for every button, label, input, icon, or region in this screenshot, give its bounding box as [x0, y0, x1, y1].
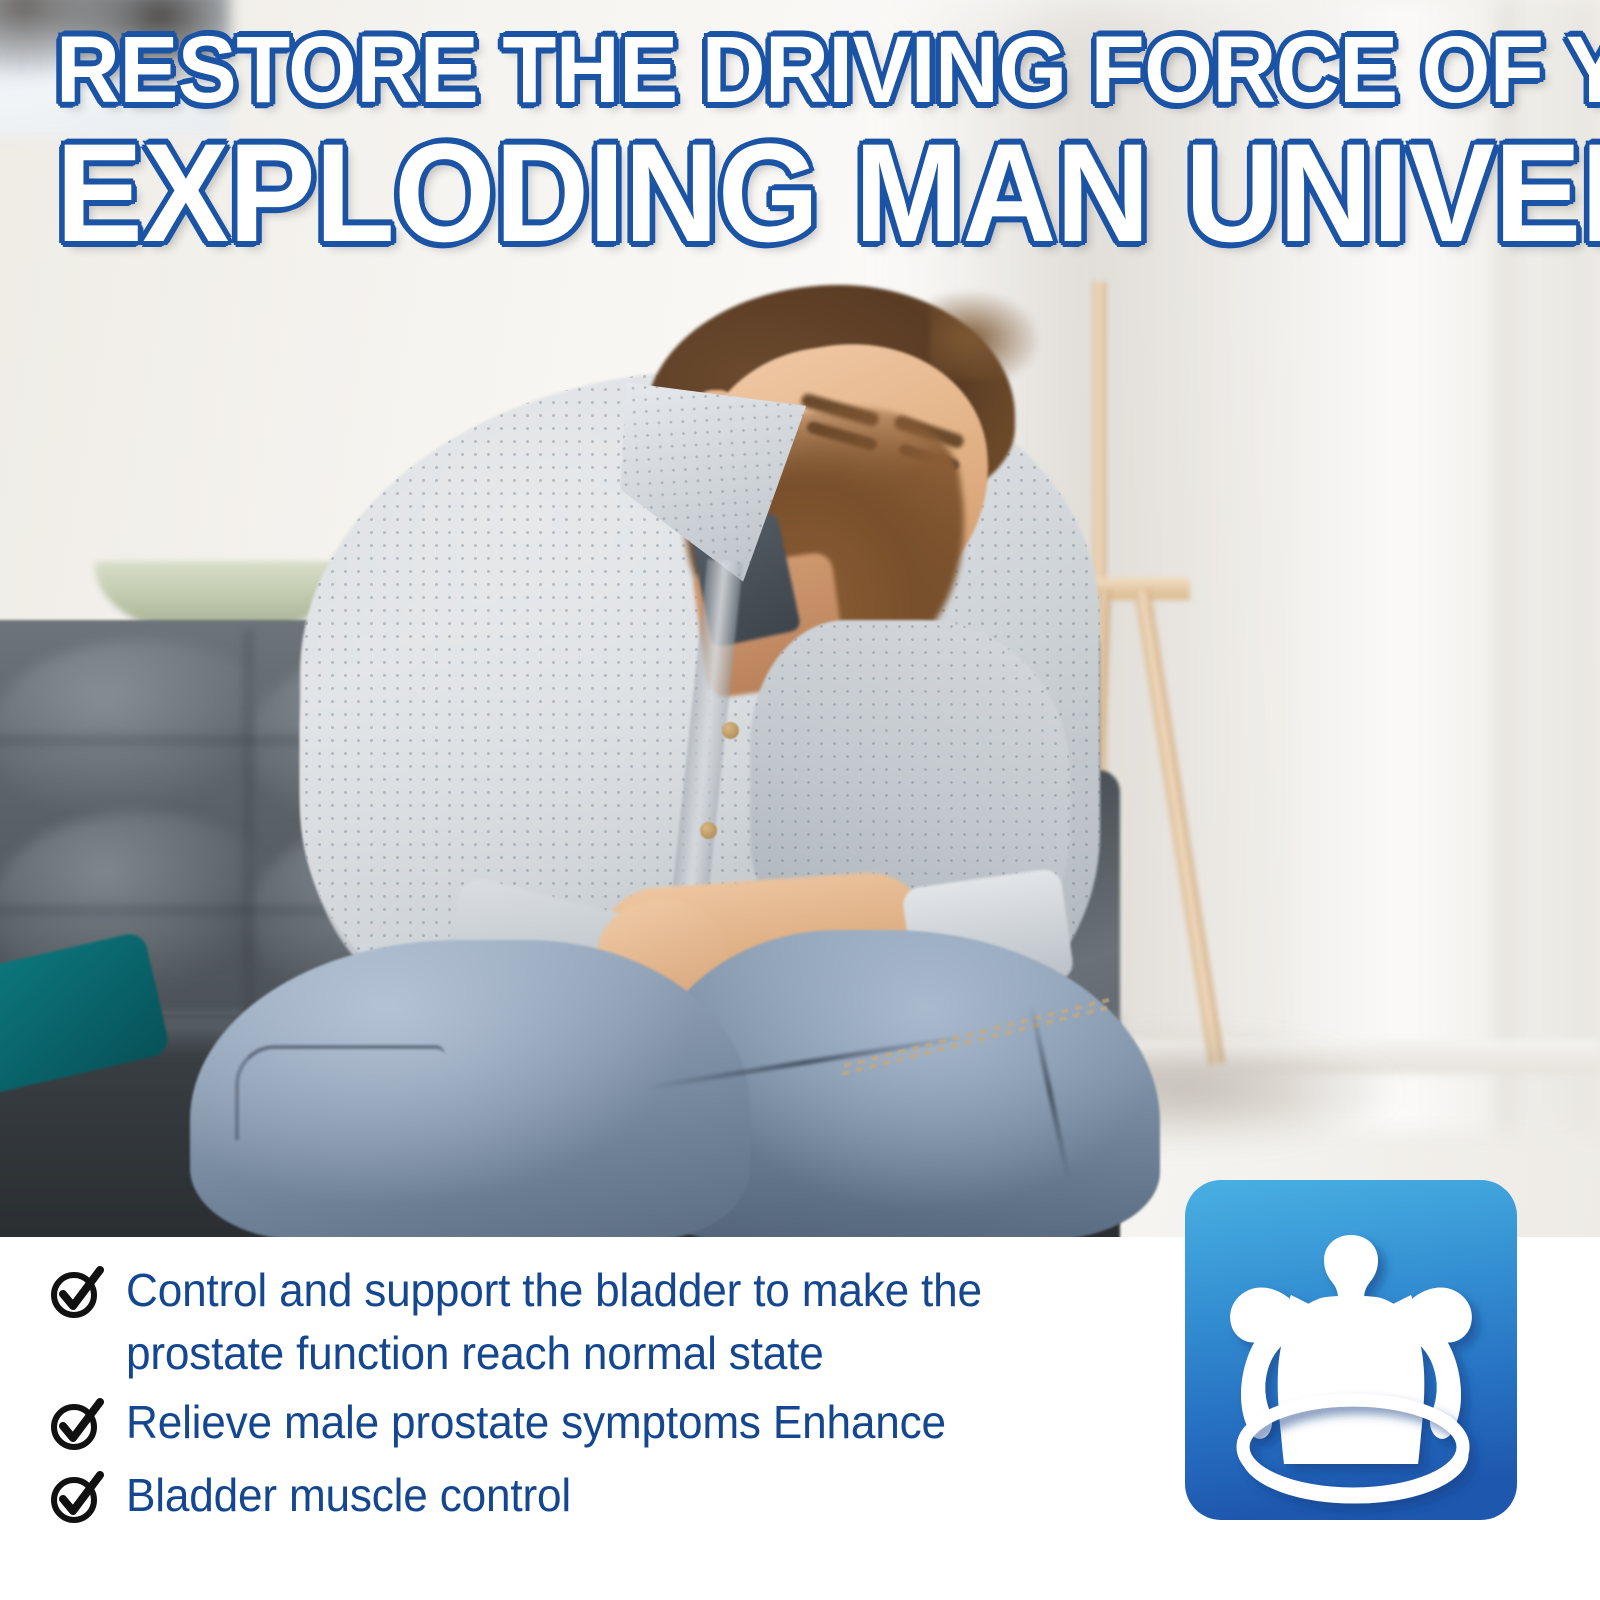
check-circle-icon	[48, 1397, 104, 1458]
jeans-pocket	[235, 1045, 445, 1140]
check-circle-icon	[48, 1265, 104, 1326]
list-item: Relieve male prostate symptoms Enhance	[48, 1391, 1138, 1458]
check-circle-icon	[48, 1470, 104, 1531]
man-figure	[0, 0, 1600, 1237]
hair-wisp	[930, 290, 1040, 380]
shirt-button	[700, 822, 717, 839]
list-item: Bladder muscle control	[48, 1464, 1138, 1531]
benefit-label: Relieve male prostate symptoms Enhance	[126, 1391, 946, 1454]
bodybuilder-logo	[1185, 1180, 1517, 1520]
benefit-label: Bladder muscle control	[126, 1464, 571, 1527]
list-item: Control and support the bladder to make …	[48, 1259, 1138, 1385]
benefits-list: Control and support the bladder to make …	[48, 1259, 1138, 1537]
benefit-label: Control and support the bladder to make …	[126, 1259, 1098, 1385]
hero-photo	[0, 0, 1600, 1237]
shirt-button	[722, 722, 739, 739]
